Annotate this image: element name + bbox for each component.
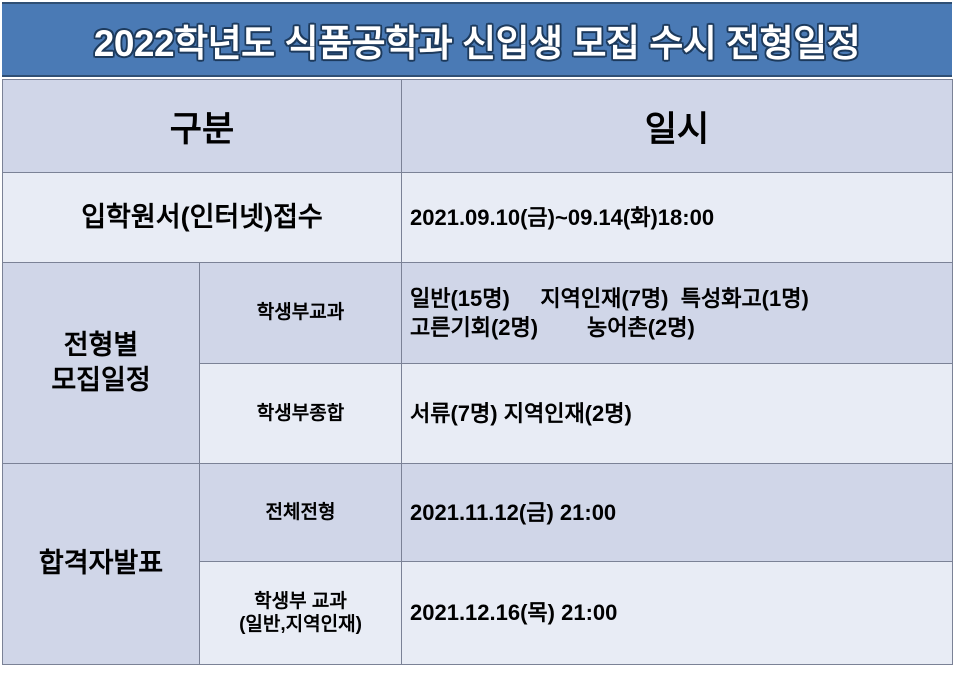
table-row-admission-type-subject: 전형별모집일정 학생부교과 일반(15명) 지역인재(7명) 특성화고(1명) …: [3, 263, 953, 364]
column-header-category: 구분: [3, 80, 402, 173]
row-label-admission-schedule: 전형별모집일정: [3, 263, 200, 464]
poster-title-bar: 2022학년도 식품공학과 신입생 모집 수시 전형일정: [2, 2, 952, 77]
row-label-application: 입학원서(인터넷)접수: [3, 173, 402, 263]
page-title: 2022학년도 식품공학과 신입생 모집 수시 전형일정: [94, 13, 860, 67]
subrow-value-school-record-comprehensive: 서류(7명) 지역인재(2명): [402, 364, 953, 464]
row-label-result-announcement: 합격자발표: [3, 464, 200, 665]
row-value-application: 2021.09.10(금)~09.14(화)18:00: [402, 173, 953, 263]
admissions-schedule-table: 구분 일시 입학원서(인터넷)접수 2021.09.10(금)~09.14(화)…: [2, 79, 953, 665]
table-row-result-all: 합격자발표 전체전형 2021.11.12(금) 21:00: [3, 464, 953, 562]
subrow-value-subject-general-local: 2021.12.16(목) 21:00: [402, 562, 953, 665]
subrow-value-all-types: 2021.11.12(금) 21:00: [402, 464, 953, 562]
column-header-datetime: 일시: [402, 80, 953, 173]
quota-line-2: 고른기회(2명) 농어촌(2명): [410, 313, 944, 342]
subrow-label-school-record-comprehensive: 학생부종합: [200, 364, 402, 464]
subrow-label-subject-general-local: 학생부 교과(일반,지역인재): [200, 562, 402, 665]
subrow-value-school-record-subject: 일반(15명) 지역인재(7명) 특성화고(1명) 고른기회(2명) 농어촌(2…: [402, 263, 953, 364]
subrow-label-all-types: 전체전형: [200, 464, 402, 562]
quota-line-1: 일반(15명) 지역인재(7명) 특성화고(1명): [410, 284, 944, 313]
table-header-row: 구분 일시: [3, 80, 953, 173]
subrow-label-school-record-subject: 학생부교과: [200, 263, 402, 364]
schedule-poster: 2022학년도 식품공학과 신입생 모집 수시 전형일정 구분 일시 입학원서(…: [0, 0, 960, 674]
table-row-application: 입학원서(인터넷)접수 2021.09.10(금)~09.14(화)18:00: [3, 173, 953, 263]
